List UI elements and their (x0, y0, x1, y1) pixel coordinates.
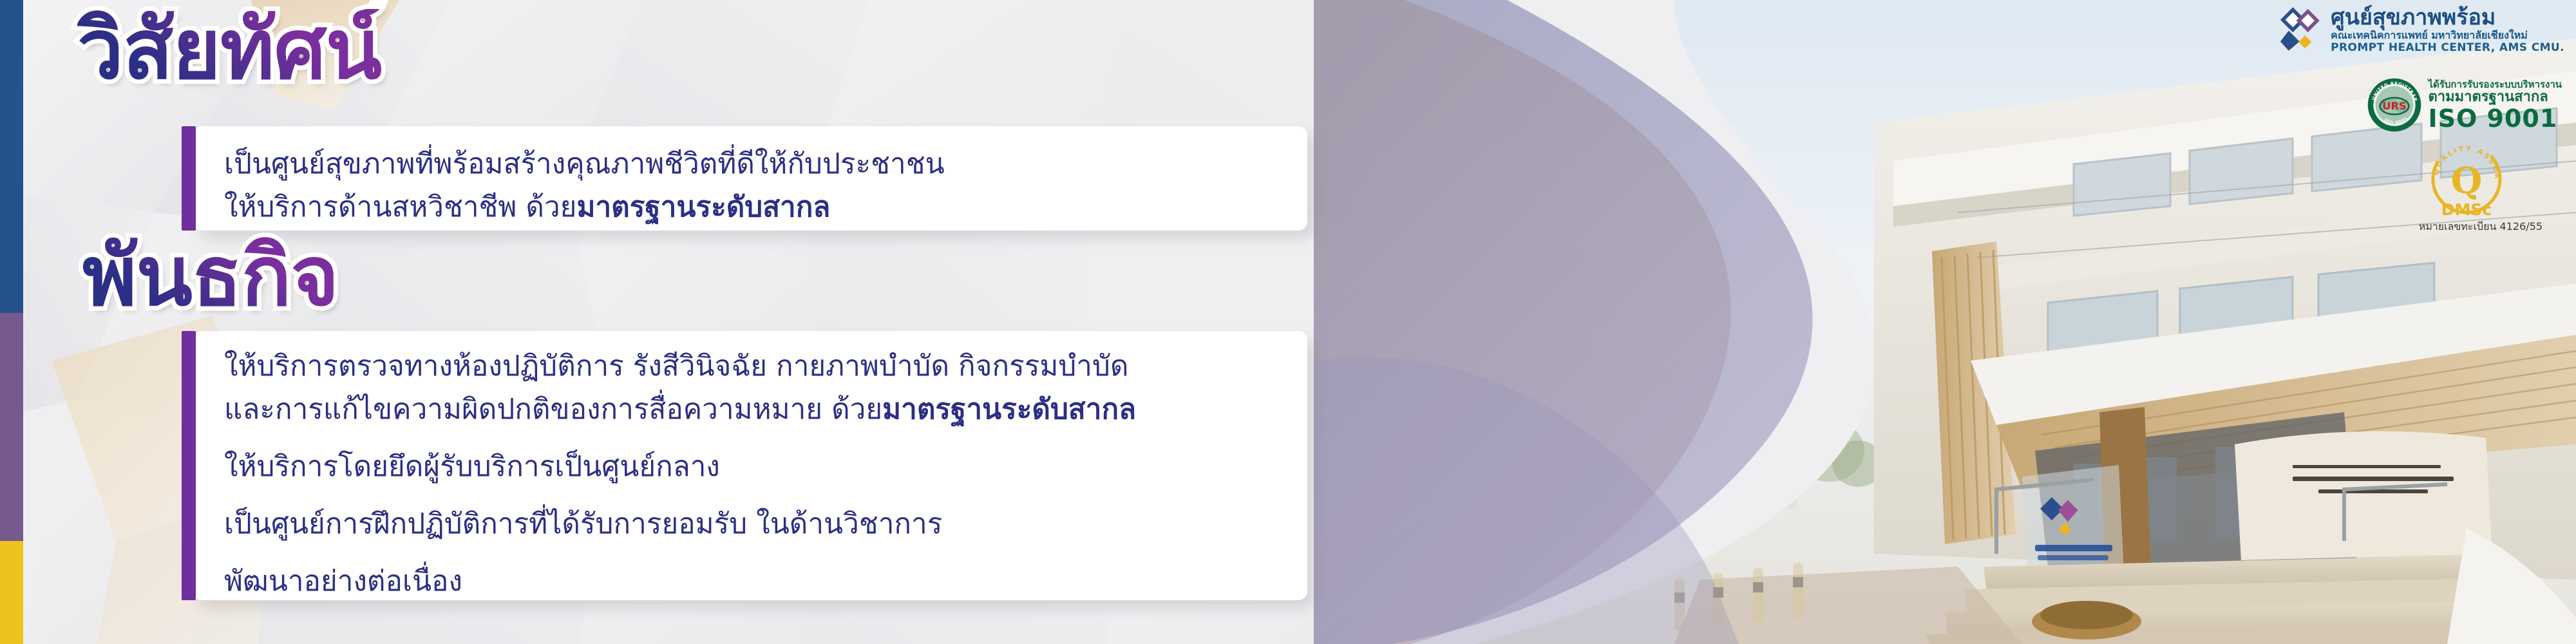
mission-line-5-text: พัฒนาอย่างต่อเนื่อง (224, 565, 462, 598)
iso-9001-certification-block: URS UNITED REGISTRAR OF SYSTEMS ISO 9001… (2367, 77, 2562, 133)
iso-line-3: ISO 9001 (2429, 106, 2558, 131)
logo-title: ศูนย์สุขภาพพร้อม (2331, 6, 2564, 29)
logo-subtitle-th: คณะเทคนิคการแพทย์ มหาวิทยาลัยเชียงใหม่ (2331, 30, 2564, 42)
vision-line-2-text: ให้บริการด้านสหวิชาชีพ ด้วย (224, 191, 576, 223)
logo-subtitle-en: PROMPT HEALTH CENTER, AMS CMU. (2331, 42, 2564, 54)
left-accent-stripe (0, 0, 23, 644)
vision-line-1-text: เป็นศูนย์สุขภาพที่พร้อมสร้างคุณภาพชีวิตท… (224, 147, 945, 180)
svg-text:DMSc: DMSc (2441, 200, 2492, 218)
mission-card-accent-bar (182, 331, 196, 600)
mission-card: ให้บริการตรวจทางห้องปฏิบัติการ รังสีวินิ… (193, 331, 1307, 600)
vision-line-1: เป็นศูนย์สุขภาพที่พร้อมสร้างคุณภาพชีวิตท… (224, 143, 1282, 186)
stripe-segment-blue (0, 0, 23, 313)
mission-heading-fill: พันธกิจ (82, 236, 339, 318)
iso-text-group: ได้รับการรับรองระบบบริหารงาน ตามมาตรฐานส… (2429, 79, 2562, 131)
stripe-segment-yellow (0, 541, 23, 644)
mission-line-1: ให้บริการตรวจทางห้องปฏิบัติการ รังสีวินิ… (224, 345, 1282, 388)
stripe-segment-purple (0, 313, 23, 541)
svg-text:URS: URS (2382, 100, 2407, 112)
svg-text:Q: Q (2451, 160, 2483, 202)
vision-mission-banner: วิสัยทัศน์ วิสัยทัศน์ เป็นศูนย์สุขภาพที่… (0, 0, 2576, 644)
vision-card: เป็นศูนย์สุขภาพที่พร้อมสร้างคุณภาพชีวิตท… (193, 126, 1307, 231)
vision-line-2-bold: มาตรฐานระดับสากล (576, 191, 830, 223)
mission-line-2-text: และการแก้ไขความผิดปกติของการสื่อความหมาย… (224, 393, 882, 426)
mission-line-4: เป็นศูนย์การฝึกปฏิบัติการที่ได้รับการยอม… (224, 503, 1282, 546)
mission-line-2-bold: มาตรฐานระดับสากล (882, 393, 1136, 426)
mission-line-4-text: เป็นศูนย์การฝึกปฏิบัติการที่ได้รับการยอม… (224, 507, 942, 540)
urs-registrar-of-systems-seal-icon: URS UNITED REGISTRAR OF SYSTEMS ISO 9001 (2367, 77, 2422, 133)
iso-line-1: ได้รับการรับรองระบบบริหารงาน (2429, 79, 2562, 90)
logo-text-group: ศูนย์สุขภาพพร้อม คณะเทคนิคการแพทย์ มหาวิ… (2331, 6, 2564, 54)
vision-line-2: ให้บริการด้านสหวิชาชีพ ด้วยมาตรฐานระดับส… (224, 186, 1282, 229)
mission-line-2: และการแก้ไขความผิดปกติของการสื่อความหมาย… (224, 388, 1282, 431)
mission-heading: พันธกิจ พันธกิจ (82, 236, 339, 318)
vision-heading-fill: วิสัยทัศน์ (77, 9, 381, 91)
mission-line-3-text: ให้บริการโดยยึดผู้รับบริการเป็นศูนย์กลาง (224, 450, 720, 483)
vision-card-lines: เป็นศูนย์สุขภาพที่พร้อมสร้างคุณภาพชีวิตท… (193, 126, 1307, 246)
mission-card-lines: ให้บริการตรวจทางห้องปฏิบัติการ รังสีวินิ… (193, 331, 1307, 617)
iso-line-2: ตามมาตรฐานสากล (2429, 90, 2548, 106)
prompt-health-center-logo-block: ศูนย์สุขภาพพร้อม คณะเทคนิคการแพทย์ มหาวิ… (2279, 6, 2564, 54)
prompt-health-center-diamond-logo-icon (2279, 6, 2322, 52)
mission-line-5: พัฒนาอย่างต่อเนื่อง (224, 560, 1282, 603)
mission-line-1-text: ให้บริการตรวจทางห้องปฏิบัติการ รังสีวินิ… (224, 350, 1129, 383)
mission-line-3: ให้บริการโดยยึดผู้รับบริการเป็นศูนย์กลาง (224, 446, 1282, 489)
vision-card-accent-bar (182, 126, 196, 231)
vision-heading: วิสัยทัศน์ วิสัยทัศน์ (77, 9, 381, 91)
dmsc-registration-number: หมายเลขทะเบียน 4126/55 (2419, 219, 2543, 235)
quality-assurance-dmsc-badge-icon: QUALITY ASSURANCE Q DMSc (2428, 140, 2505, 218)
